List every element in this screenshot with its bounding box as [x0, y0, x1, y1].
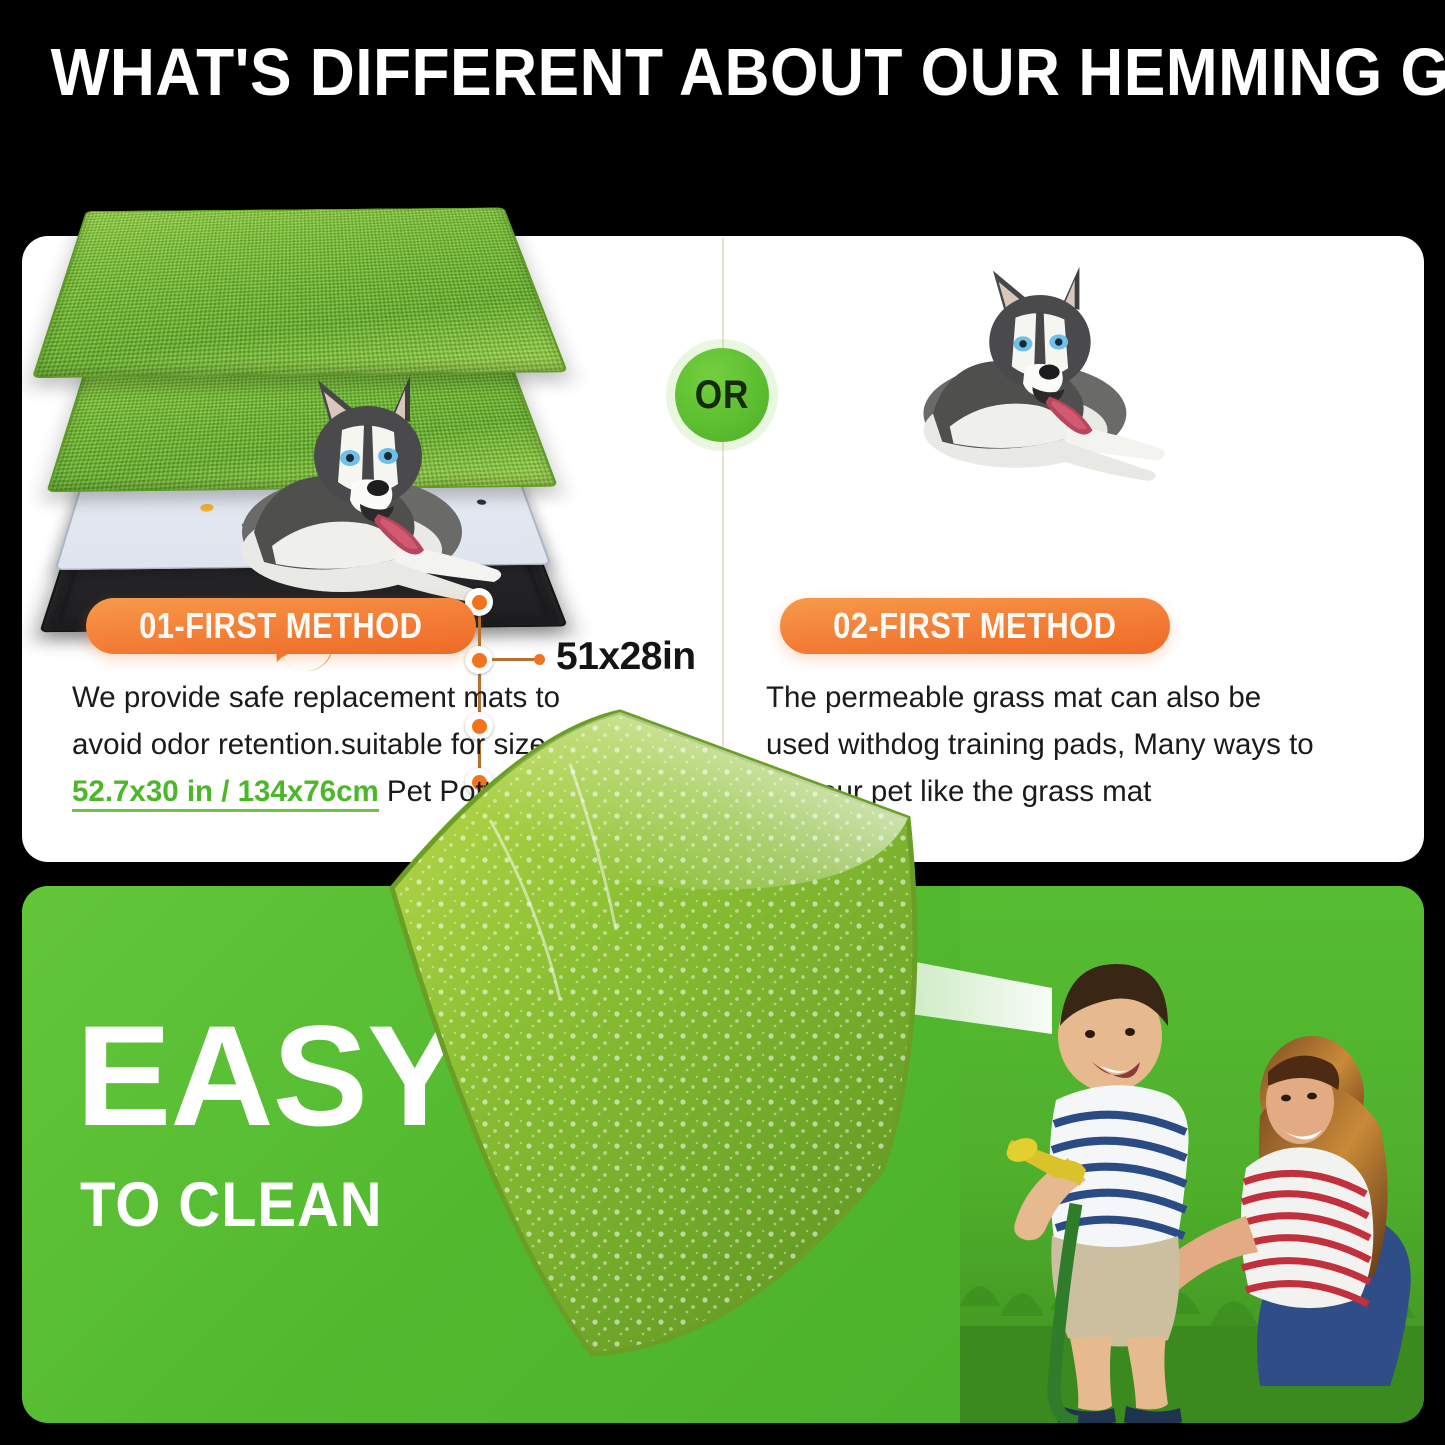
- family-hose-photo: [960, 886, 1424, 1423]
- highlight-dimensions: 52.7x30 in / 134x76cm: [72, 775, 379, 812]
- wet-grass-mat-photo: [370, 700, 960, 1380]
- layer-top-grass-mat: [32, 208, 568, 379]
- husky-dog-photo-right: [884, 254, 1194, 492]
- badge-first-method: 01-FIRST METHOD: [86, 598, 476, 654]
- dimension-label-51x28: 51x28in: [556, 635, 696, 679]
- feature-subhead: TO CLEAN: [80, 1174, 383, 1237]
- badge-second-method: 02-FIRST METHOD: [780, 598, 1170, 654]
- badge-second-method-label: 02-FIRST METHOD: [833, 605, 1116, 647]
- dimension-marker-replacement-mat: [465, 646, 493, 674]
- callout-dot-51x28: [534, 654, 545, 665]
- page-title: WHAT'S DIFFERENT ABOUT OUR HEMMING GRASS…: [51, 34, 1395, 111]
- callout-line-51x28: [492, 658, 538, 661]
- husky-dog-photo-left: [202, 364, 532, 614]
- badge-first-method-label: 01-FIRST METHOD: [139, 605, 422, 647]
- infographic-root: WHAT'S DIFFERENT ABOUT OUR HEMMING GRASS…: [0, 0, 1445, 1445]
